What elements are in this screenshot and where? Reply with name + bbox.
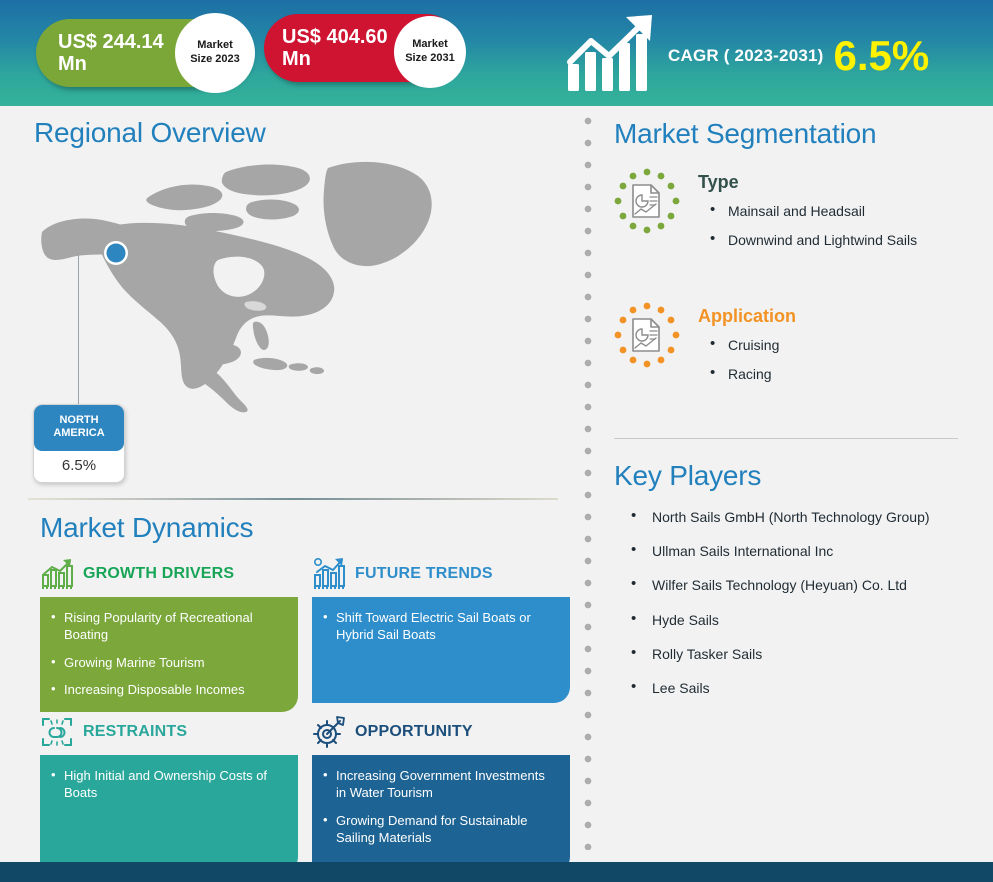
dynamics-card-future-trends: FUTURE TRENDS Shift Toward Electric Sail… bbox=[312, 554, 570, 703]
region-callout-north-america[interactable]: NORTH AMERICA 6.5% bbox=[33, 404, 125, 483]
restraints-box: High Initial and Ownership Costs of Boat… bbox=[40, 755, 298, 873]
growth-bar-chart-arrow-icon bbox=[566, 12, 658, 99]
list-item: Downwind and Lightwind Sails bbox=[710, 232, 917, 249]
list-item: Lee Sails bbox=[628, 679, 968, 697]
north-america-map bbox=[40, 154, 440, 414]
future-trends-header: FUTURE TRENDS bbox=[312, 554, 570, 594]
market-size-2031-pill: US$ 404.60 Mn Market Size 2031 bbox=[264, 14, 460, 82]
dynamics-card-restraints: RESTRAINTS High Initial and Ownership Co… bbox=[40, 712, 298, 873]
growth-drivers-header: GROWTH DRIVERS bbox=[40, 554, 298, 594]
market-dynamics-title: Market Dynamics bbox=[40, 512, 253, 544]
list-item: Ullman Sails International Inc bbox=[628, 542, 968, 560]
callout-region-rate: 6.5% bbox=[34, 451, 124, 482]
gear-target-icon bbox=[312, 715, 346, 749]
report-document-icon bbox=[614, 302, 680, 368]
application-content: Application Cruising Racing bbox=[698, 302, 796, 395]
growth-drivers-label: GROWTH DRIVERS bbox=[83, 565, 234, 583]
future-trends-label: FUTURE TRENDS bbox=[355, 565, 493, 583]
list-item: Increasing Disposable Incomes bbox=[50, 681, 286, 698]
list-item: High Initial and Ownership Costs of Boat… bbox=[50, 767, 286, 802]
opportunity-label: OPPORTUNITY bbox=[355, 723, 473, 741]
badge-2023-line2: Size 2023 bbox=[190, 53, 240, 67]
list-item: Shift Toward Electric Sail Boats or Hybr… bbox=[322, 609, 558, 644]
regional-overview-title: Regional Overview bbox=[34, 117, 266, 149]
restraints-header: RESTRAINTS bbox=[40, 712, 298, 752]
segmentation-group-application: Application Cruising Racing bbox=[614, 302, 796, 395]
list-item: Growing Demand for Sustainable Sailing M… bbox=[322, 812, 558, 847]
restraints-list: High Initial and Ownership Costs of Boat… bbox=[50, 767, 286, 802]
list-item: Wilfer Sails Technology (Heyuan) Co. Ltd bbox=[628, 576, 968, 594]
type-content: Type Mainsail and Headsail Downwind and … bbox=[698, 168, 917, 261]
callout-region-line1: NORTH bbox=[38, 414, 120, 427]
list-item: Increasing Government Investments in Wat… bbox=[322, 767, 558, 802]
dynamics-card-growth-drivers: GROWTH DRIVERS Rising Popularity of Recr… bbox=[40, 554, 298, 712]
market-size-2031-value: US$ 404.60 Mn bbox=[264, 26, 404, 71]
callout-region-line2: AMERICA bbox=[38, 427, 120, 440]
market-size-2023-pill: US$ 244.14 Mn Market Size 2023 bbox=[36, 19, 251, 87]
market-size-2023-value: US$ 244.14 Mn bbox=[36, 31, 184, 76]
cagr-group: CAGR ( 2023-2031) 6.5% bbox=[566, 12, 929, 99]
key-players-title: Key Players bbox=[614, 460, 761, 492]
type-heading: Type bbox=[698, 172, 917, 193]
report-document-icon bbox=[614, 168, 680, 234]
cagr-value: 6.5% bbox=[834, 35, 930, 77]
key-players-list: North Sails GmbH (North Technology Group… bbox=[628, 508, 968, 713]
map-pin-dot bbox=[104, 241, 128, 265]
market-size-2023-badge: Market Size 2023 bbox=[175, 13, 255, 93]
list-item: Hyde Sails bbox=[628, 611, 968, 629]
list-item: Racing bbox=[710, 366, 796, 383]
type-list: Mainsail and Headsail Downwind and Light… bbox=[698, 203, 917, 249]
future-trends-box: Shift Toward Electric Sail Boats or Hybr… bbox=[312, 597, 570, 703]
growth-drivers-box: Rising Popularity of Recreational Boatin… bbox=[40, 597, 298, 712]
callout-leader-line bbox=[78, 254, 79, 412]
growth-drivers-list: Rising Popularity of Recreational Boatin… bbox=[50, 609, 286, 698]
dynamics-card-opportunity: OPPORTUNITY Increasing Government Invest… bbox=[312, 712, 570, 873]
application-list: Cruising Racing bbox=[698, 337, 796, 383]
market-dynamics-divider bbox=[28, 498, 558, 500]
list-item: Growing Marine Tourism bbox=[50, 654, 286, 671]
restraints-label: RESTRAINTS bbox=[83, 723, 187, 741]
badge-2031-line1: Market bbox=[412, 38, 447, 52]
header-band: US$ 244.14 Mn Market Size 2023 US$ 404.6… bbox=[0, 0, 993, 106]
cagr-label: CAGR ( 2023-2031) bbox=[668, 46, 824, 66]
list-item: Mainsail and Headsail bbox=[710, 203, 917, 220]
opportunity-header: OPPORTUNITY bbox=[312, 712, 570, 752]
infographic-root: US$ 244.14 Mn Market Size 2023 US$ 404.6… bbox=[0, 0, 993, 882]
market-size-2031-badge: Market Size 2031 bbox=[394, 16, 466, 88]
list-item: Cruising bbox=[710, 337, 796, 354]
chain-link-icon bbox=[40, 715, 74, 749]
list-item: North Sails GmbH (North Technology Group… bbox=[628, 508, 968, 526]
badge-2023-line1: Market bbox=[197, 39, 232, 53]
opportunity-box: Increasing Government Investments in Wat… bbox=[312, 755, 570, 873]
badge-2031-line2: Size 2031 bbox=[405, 52, 455, 66]
right-column: Market Segmentation bbox=[600, 106, 993, 862]
trend-chart-icon bbox=[312, 557, 346, 591]
footer-bar bbox=[0, 862, 993, 882]
left-column: Regional Overview bbox=[0, 106, 576, 862]
segmentation-players-divider bbox=[614, 438, 958, 439]
list-item: Rising Popularity of Recreational Boatin… bbox=[50, 609, 286, 644]
callout-region-name: NORTH AMERICA bbox=[34, 405, 124, 451]
future-trends-list: Shift Toward Electric Sail Boats or Hybr… bbox=[322, 609, 558, 644]
application-heading: Application bbox=[698, 306, 796, 327]
list-item: Rolly Tasker Sails bbox=[628, 645, 968, 663]
segmentation-group-type: Type Mainsail and Headsail Downwind and … bbox=[614, 168, 917, 261]
opportunity-list: Increasing Government Investments in Wat… bbox=[322, 767, 558, 846]
column-dotted-divider bbox=[583, 116, 593, 850]
growth-chart-icon bbox=[40, 557, 74, 591]
market-segmentation-title: Market Segmentation bbox=[614, 118, 876, 150]
